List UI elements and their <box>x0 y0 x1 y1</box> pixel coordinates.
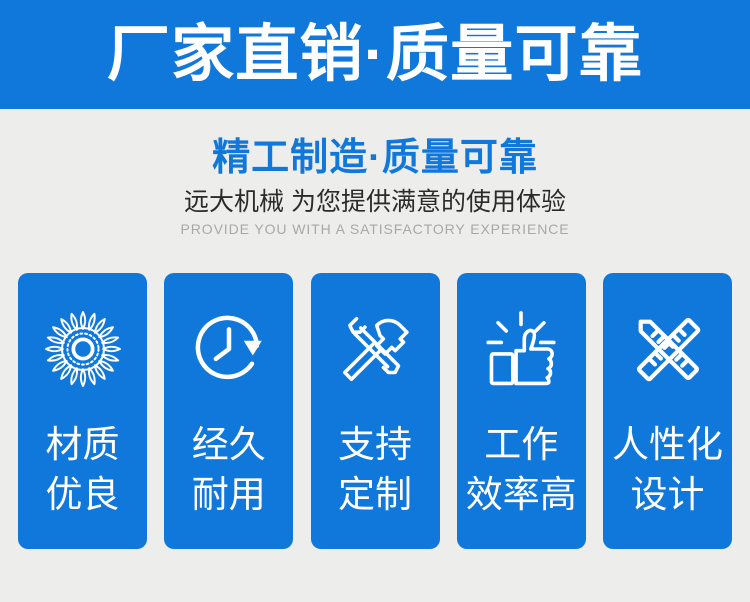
feature-card-row: 材质 优良 经久 耐用 <box>18 273 732 549</box>
crossed-rulers-icon <box>603 299 732 399</box>
feature-card-label: 人性化 设计 <box>591 420 744 520</box>
feature-card-label: 支持 定制 <box>299 420 452 520</box>
feature-card-label: 经久 耐用 <box>152 420 305 520</box>
feature-card-material[interactable]: 材质 优良 <box>18 273 147 549</box>
feature-card-label-line1: 经久 <box>152 420 305 470</box>
feature-card-label: 材质 优良 <box>6 420 159 520</box>
feature-card-label-line2: 定制 <box>299 470 452 520</box>
feature-card-label-line1: 材质 <box>6 420 159 470</box>
feature-card-label: 工作 效率高 <box>445 420 598 520</box>
feature-card-customization[interactable]: 支持 定制 <box>311 273 440 549</box>
feature-card-label-line2: 效率高 <box>445 470 598 520</box>
feature-card-label-line1: 人性化 <box>591 420 744 470</box>
headline-block: 精工制造·质量可靠 远大机械 为您提供满意的使用体验 PROVIDE YOU W… <box>0 109 750 238</box>
feature-card-design[interactable]: 人性化 设计 <box>603 273 732 549</box>
headline-main-title: 精工制造·质量可靠 <box>0 136 750 180</box>
hammer-wrench-icon <box>311 299 440 399</box>
feature-card-label-line2: 耐用 <box>152 470 305 520</box>
headline-subtitle: 远大机械 为您提供满意的使用体验 <box>0 187 750 217</box>
feature-card-durability[interactable]: 经久 耐用 <box>164 273 293 549</box>
top-banner: 厂家直销·质量可靠 <box>0 0 750 109</box>
saw-blade-icon <box>18 299 147 399</box>
banner-title: 厂家直销·质量可靠 <box>107 22 643 88</box>
feature-card-label-line2: 设计 <box>591 470 744 520</box>
feature-card-label-line1: 工作 <box>445 420 598 470</box>
feature-card-label-line2: 优良 <box>6 470 159 520</box>
clock-arrow-icon <box>164 299 293 399</box>
promo-banner-page: 厂家直销·质量可靠 精工制造·质量可靠 远大机械 为您提供满意的使用体验 PRO… <box>0 0 750 602</box>
feature-card-efficiency[interactable]: 工作 效率高 <box>457 273 586 549</box>
headline-english-caption: PROVIDE YOU WITH A SATISFACTORY EXPERIEN… <box>0 220 750 238</box>
feature-card-label-line1: 支持 <box>299 420 452 470</box>
thumbs-up-icon <box>457 299 586 399</box>
